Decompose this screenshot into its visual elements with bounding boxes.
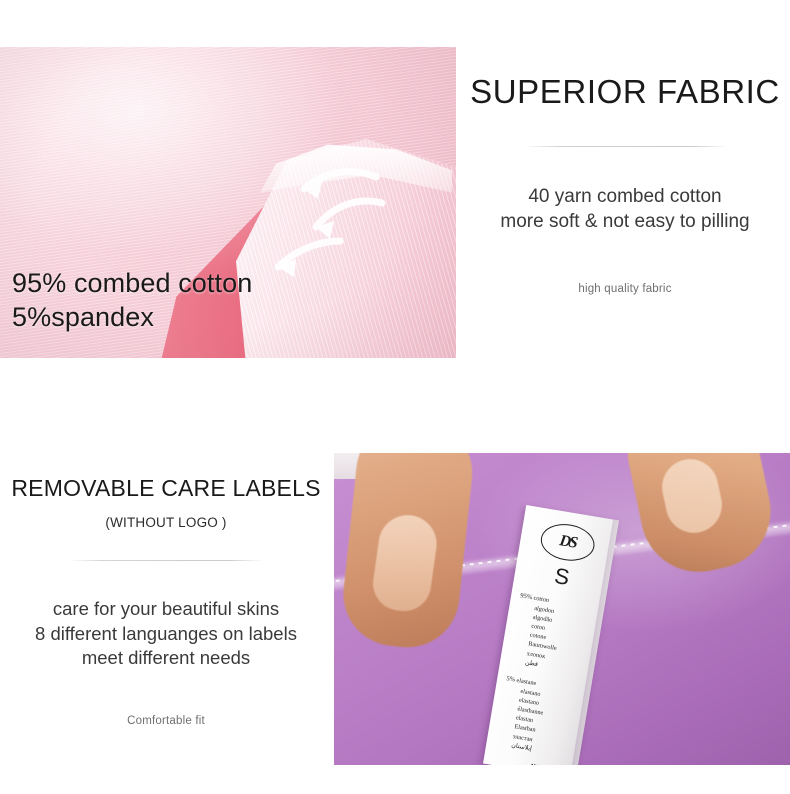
cotton-term-en: cotton	[533, 595, 549, 604]
superior-fabric-title: SUPERIOR FABRIC	[460, 74, 790, 110]
pink-knit-fabric-photo: 95% combed cotton 5%spandex	[0, 47, 456, 358]
fabric-composition-caption: 95% combed cotton 5%spandex	[12, 267, 252, 334]
superior-fabric-body: 40 yarn combed cotton more soft & not ea…	[460, 185, 790, 234]
composition-block-cotton: 95% cotton algodon algodão coton cotone …	[507, 591, 598, 677]
care-labels-panel: REMOVABLE CARE LABELS (WITHOUT LOGO ) ca…	[0, 466, 332, 766]
size-marking: S	[521, 559, 604, 594]
purple-garment-care-label-photo: DS S 95% cotton algodon algodão coton co…	[334, 453, 790, 765]
composition-block-elastane: 5% elastane elastano elastano élasthanne…	[493, 674, 584, 760]
superior-fabric-subcaption: high quality fabric	[460, 283, 790, 295]
superior-fabric-divider	[523, 146, 728, 147]
elastane-percent: 5%	[506, 675, 516, 683]
product-feature-page: 95% combed cotton 5%spandex SUPERIOR FAB…	[0, 0, 790, 794]
brand-monogram-logo: DS	[538, 520, 597, 564]
care-labels-body: care for your beautiful skins 8 differen…	[0, 597, 332, 671]
care-labels-title: REMOVABLE CARE LABELS	[0, 476, 332, 501]
elastane-term-en: elastane	[516, 677, 537, 687]
superior-fabric-panel: SUPERIOR FABRIC 40 yarn combed cotton mo…	[460, 60, 790, 360]
care-labels-subtitle: (WITHOUT LOGO )	[0, 515, 332, 530]
care-labels-divider	[68, 560, 264, 561]
care-labels-footnote: Comfortable fit	[0, 715, 332, 727]
cotton-percent: 95%	[520, 592, 533, 601]
